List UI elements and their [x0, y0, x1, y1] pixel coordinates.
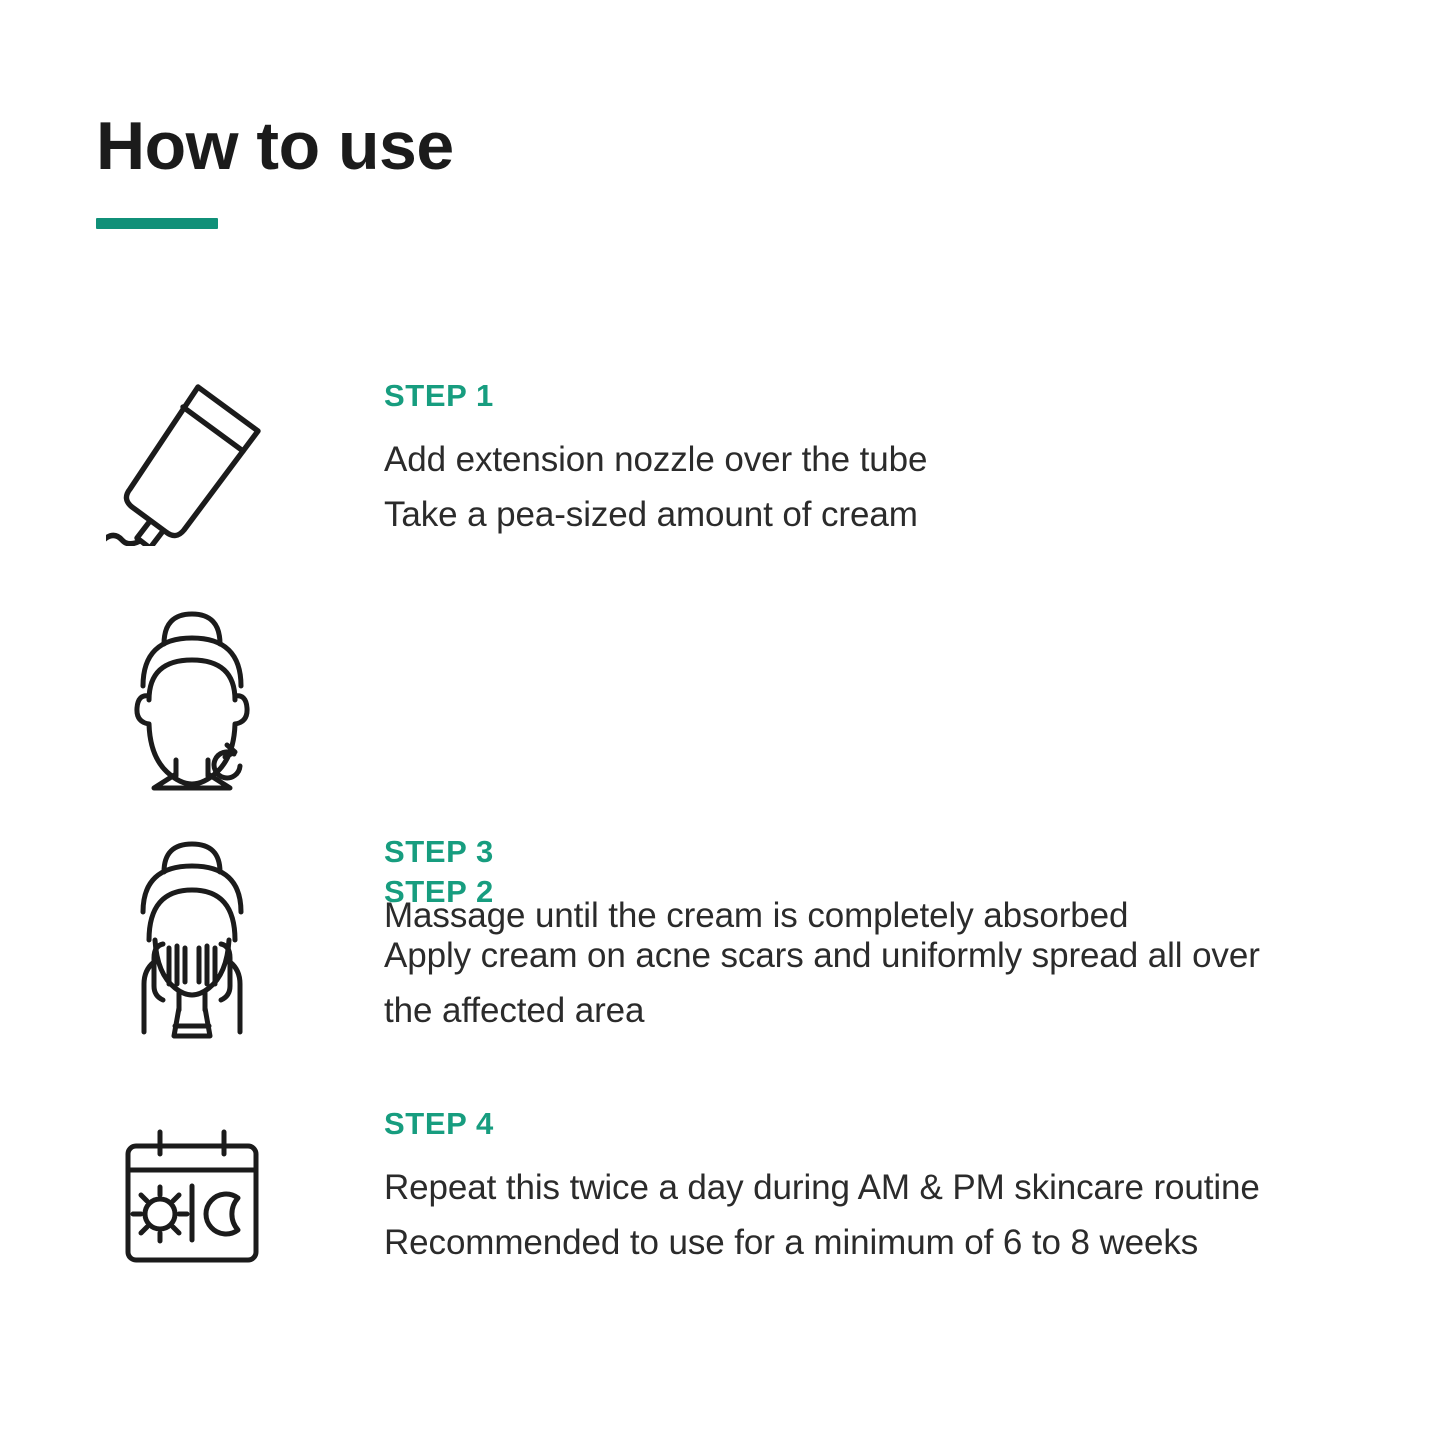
how-to-use-infographic: How to use	[0, 0, 1440, 1440]
step-description: Repeat this twice a day during AM & PM s…	[384, 1161, 1400, 1270]
calendar-day-night-icon	[114, 1128, 270, 1268]
step-label: STEP 1	[384, 380, 1400, 411]
step-label: STEP 3	[384, 836, 1400, 867]
steps-list: STEP 1 Add extension nozzle over the tub…	[0, 352, 1440, 1308]
title-accent-rule	[96, 218, 218, 229]
step-text-cell: STEP 4 Repeat this twice a day during AM…	[384, 1108, 1440, 1270]
step-line: Recommended to use for a minimum of 6 to…	[384, 1216, 1400, 1271]
page-title: How to use	[96, 112, 454, 180]
step-icon-cell	[0, 598, 384, 792]
step-icon-cell	[0, 1108, 384, 1268]
face-massage-hands-icon	[119, 836, 265, 1046]
step-icon-cell	[0, 836, 384, 1046]
face-apply-cream-icon	[124, 604, 260, 792]
step-line: Take a pea-sized amount of cream	[384, 488, 1400, 543]
step-item: STEP 1 Add extension nozzle over the tub…	[0, 352, 1440, 598]
step-text-cell: STEP 3 Massage until the cream is comple…	[384, 836, 1440, 944]
step-text-cell: STEP 1 Add extension nozzle over the tub…	[384, 352, 1440, 542]
step-line: Massage until the cream is completely ab…	[384, 889, 1400, 944]
step-line: Add extension nozzle over the tube	[384, 433, 1400, 488]
step-icon-cell	[0, 352, 384, 546]
step-line: Repeat this twice a day during AM & PM s…	[384, 1161, 1400, 1216]
step-item: STEP 4 Repeat this twice a day during AM…	[0, 1108, 1440, 1308]
cream-tube-icon	[106, 378, 278, 546]
header: How to use	[96, 112, 454, 229]
step-label: STEP 4	[384, 1108, 1400, 1139]
step-description: Add extension nozzle over the tube Take …	[384, 433, 1400, 542]
step-item: STEP 3 Massage until the cream is comple…	[0, 836, 1440, 1108]
step-description: Massage until the cream is completely ab…	[384, 889, 1400, 944]
step-item: STEP 2 Apply cream on acne scars and uni…	[0, 598, 1440, 836]
